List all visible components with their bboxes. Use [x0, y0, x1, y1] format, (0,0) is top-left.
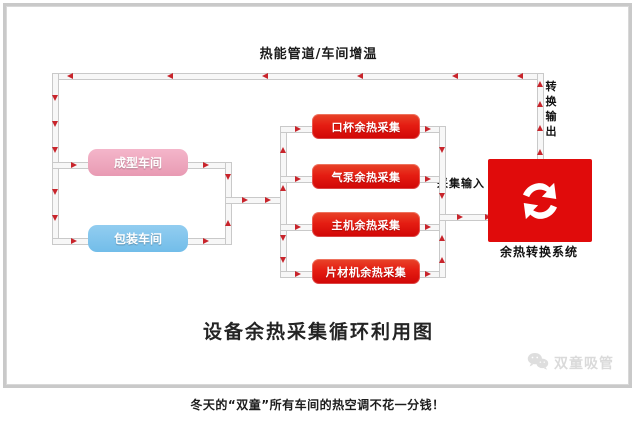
flow-arrow-icon: [52, 147, 58, 153]
node-collector-sheetmachine[interactable]: 片材机余热采集: [312, 259, 420, 284]
flow-arrow-icon: [52, 189, 58, 195]
flow-arrow-icon: [537, 125, 543, 131]
diagram-title: 设备余热采集循环利用图: [7, 317, 630, 344]
flow-arrow-icon: [67, 73, 73, 79]
flow-arrow-icon: [225, 174, 231, 180]
flow-arrow-icon: [203, 238, 209, 244]
flow-arrow-icon: [265, 197, 271, 203]
flow-arrow-icon: [537, 149, 543, 155]
diagram-frame: 热能管道/车间增温 采集输入 转换输出 成型车间 包装车间 口杯余热采集 气泵余…: [6, 6, 629, 385]
pipe-top-return: [52, 73, 544, 80]
node-forming-workshop[interactable]: 成型车间: [88, 149, 188, 176]
flow-arrow-icon: [295, 176, 301, 182]
flow-arrow-icon: [295, 224, 301, 230]
diagram-canvas: 热能管道/车间增温 采集输入 转换输出 成型车间 包装车间 口杯余热采集 气泵余…: [7, 7, 628, 384]
flow-arrow-icon: [280, 147, 286, 153]
watermark-text: 双童吸管: [554, 353, 614, 373]
flow-arrow-icon: [71, 162, 77, 168]
flow-arrow-icon: [203, 162, 209, 168]
diagram-page: 热能管道/车间增温 采集输入 转换输出 成型车间 包装车间 口杯余热采集 气泵余…: [0, 0, 635, 426]
node-packing-workshop[interactable]: 包装车间: [88, 225, 188, 252]
flow-arrow-icon: [52, 95, 58, 101]
flow-arrow-icon: [52, 121, 58, 127]
flow-arrow-icon: [425, 224, 431, 230]
node-collector-cup[interactable]: 口杯余热采集: [312, 114, 420, 139]
flow-arrow-icon: [357, 73, 363, 79]
flow-arrow-icon: [295, 126, 301, 132]
flow-arrow-icon: [457, 214, 463, 220]
flow-arrow-icon: [537, 101, 543, 107]
node-heat-conversion-system[interactable]: [488, 159, 592, 242]
watermark: 双童吸管: [527, 352, 614, 374]
top-pipe-label: 热能管道/车间增温: [7, 43, 630, 62]
node-label: 成型车间: [114, 154, 162, 171]
flow-arrow-icon: [167, 73, 173, 79]
flow-arrow-icon: [52, 215, 58, 221]
flow-arrow-icon: [517, 73, 523, 79]
node-label: 气泵余热采集: [332, 169, 401, 185]
flow-arrow-icon: [452, 73, 458, 79]
flow-arrow-icon: [71, 238, 77, 244]
conversion-output-label: 转换输出: [543, 79, 559, 139]
flow-arrow-icon: [425, 176, 431, 182]
flow-arrow-icon: [295, 271, 301, 277]
wechat-icon: [527, 352, 549, 374]
bottom-caption: 冬天的“双童”所有车间的热空调不花一分钱！: [0, 396, 635, 413]
node-label: 主机余热采集: [332, 217, 401, 233]
heat-conversion-system-caption: 余热转换系统: [473, 243, 605, 260]
flow-arrow-icon: [280, 235, 286, 241]
node-collector-mainmachine[interactable]: 主机余热采集: [312, 212, 420, 237]
flow-arrow-icon: [439, 235, 445, 241]
flow-arrow-icon: [242, 197, 248, 203]
flow-arrow-icon: [425, 126, 431, 132]
node-collector-airpump[interactable]: 气泵余热采集: [312, 164, 420, 189]
flow-arrow-icon: [280, 257, 286, 263]
node-label: 片材机余热采集: [326, 264, 407, 280]
flow-arrow-icon: [225, 220, 231, 226]
node-label: 口杯余热采集: [332, 119, 401, 135]
node-label: 包装车间: [114, 230, 162, 247]
flow-arrow-icon: [425, 271, 431, 277]
flow-arrow-icon: [439, 193, 445, 199]
pipe-workshop-to-collectors: [225, 197, 287, 204]
flow-arrow-icon: [439, 147, 445, 153]
flow-arrow-icon: [537, 81, 543, 87]
recycle-icon: [514, 175, 566, 227]
flow-arrow-icon: [280, 185, 286, 191]
flow-arrow-icon: [262, 73, 268, 79]
flow-arrow-icon: [439, 257, 445, 263]
